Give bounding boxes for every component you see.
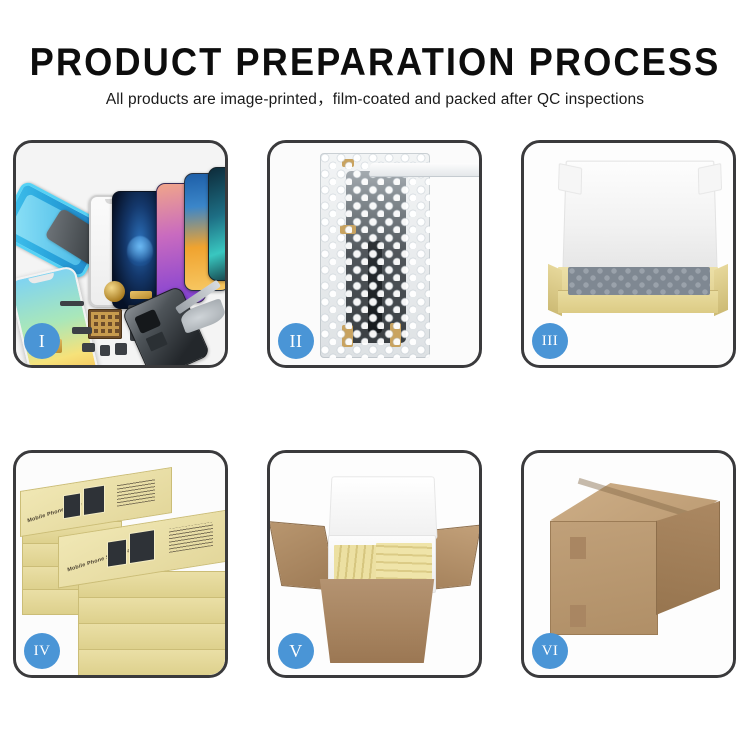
stacked-yellow-boxes	[376, 543, 432, 585]
bag-seal	[370, 163, 479, 177]
process-step-panel-5[interactable]: V	[267, 450, 482, 678]
phone-teal	[208, 167, 225, 281]
foam-box-lid-open	[328, 476, 437, 539]
carton-front-face	[550, 521, 658, 635]
chip-component	[115, 343, 127, 355]
box-window-screen	[83, 485, 105, 516]
process-step-panel-6[interactable]: VI	[521, 450, 736, 678]
step-badge-4: IV	[24, 633, 60, 669]
step-badge-2: II	[278, 323, 314, 359]
process-step-panel-2[interactable]: II	[267, 140, 482, 368]
bubble-texture	[320, 153, 430, 358]
step-badge-6: VI	[532, 633, 568, 669]
foam-tab-right	[698, 163, 722, 195]
product-preparation-infographic: PRODUCT PREPARATION PROCESS All products…	[0, 0, 750, 750]
process-step-grid: I II	[0, 0, 750, 750]
circuit-board-component	[88, 309, 122, 339]
process-step-panel-4[interactable]: Mobile Phone Spare Parts Mobile Phone Sp…	[13, 450, 228, 678]
bubble-wrapped-contents	[568, 267, 710, 295]
retail-box	[78, 649, 225, 675]
step-badge-5: V	[278, 633, 314, 669]
box-window-screen	[63, 492, 81, 519]
retail-box	[78, 623, 225, 651]
chip-component	[60, 301, 84, 306]
chip-component	[100, 345, 110, 356]
white-foam-lid	[562, 161, 718, 278]
carton-tape-upper	[570, 537, 586, 559]
process-step-panel-1[interactable]: I	[13, 140, 228, 368]
chip-component	[82, 343, 95, 352]
step-badge-1: I	[24, 323, 60, 359]
retail-box	[78, 597, 225, 625]
bubble-wrap-bag	[320, 153, 430, 358]
chip-component	[72, 327, 92, 334]
box-window-screen	[107, 539, 127, 568]
process-step-panel-3[interactable]: III	[521, 140, 736, 368]
step-badge-3: III	[532, 323, 568, 359]
carton-side-face	[656, 501, 720, 615]
speaker-component	[104, 281, 125, 302]
foam-tab-left	[558, 163, 582, 195]
carton-tape-lower	[570, 605, 586, 627]
carton-body	[312, 579, 442, 663]
box-window-screen	[129, 529, 155, 564]
